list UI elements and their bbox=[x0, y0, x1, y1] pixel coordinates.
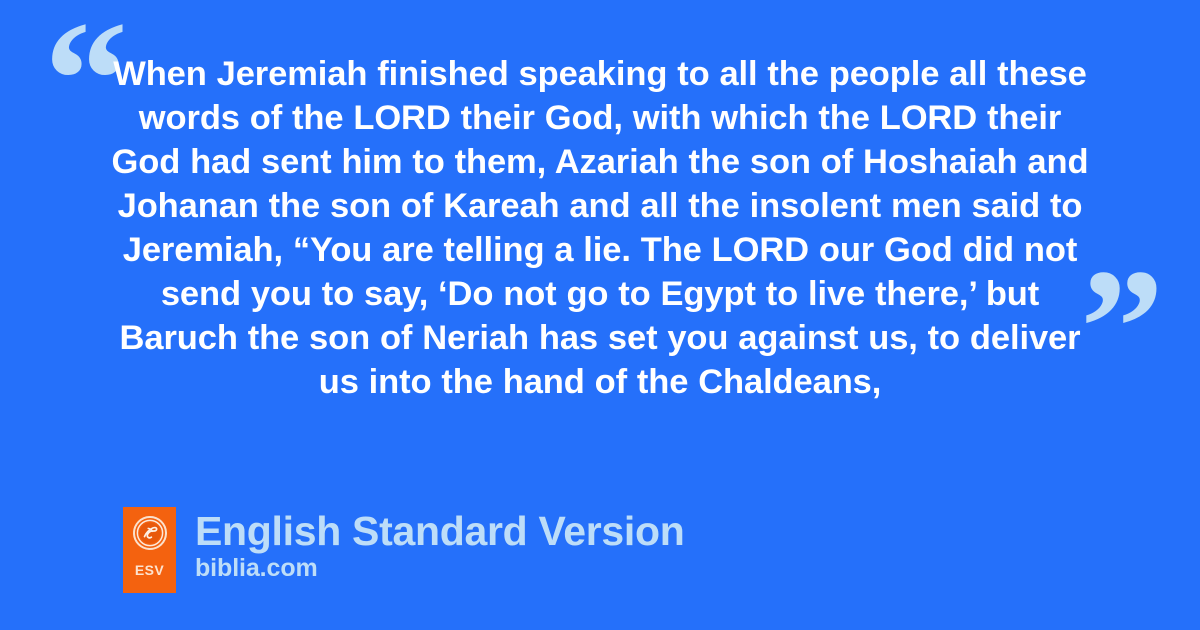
brand-text-group: English Standard Version biblia.com bbox=[195, 507, 684, 593]
esv-logo-label: ESV bbox=[135, 563, 164, 577]
verse-image-card: “ When Jeremiah finished speaking to all… bbox=[0, 0, 1200, 630]
site-url-label: biblia.com bbox=[195, 554, 684, 583]
bible-version-title: English Standard Version bbox=[195, 508, 684, 554]
quote-text: When Jeremiah finished speaking to all t… bbox=[108, 52, 1092, 404]
branding: ESV English Standard Version biblia.com bbox=[123, 507, 684, 593]
esv-seal-icon bbox=[133, 516, 167, 550]
esv-logo-tile: ESV bbox=[123, 507, 176, 593]
closing-quote-mark-icon: ” bbox=[1080, 244, 1164, 412]
quote-block: When Jeremiah finished speaking to all t… bbox=[108, 52, 1092, 404]
